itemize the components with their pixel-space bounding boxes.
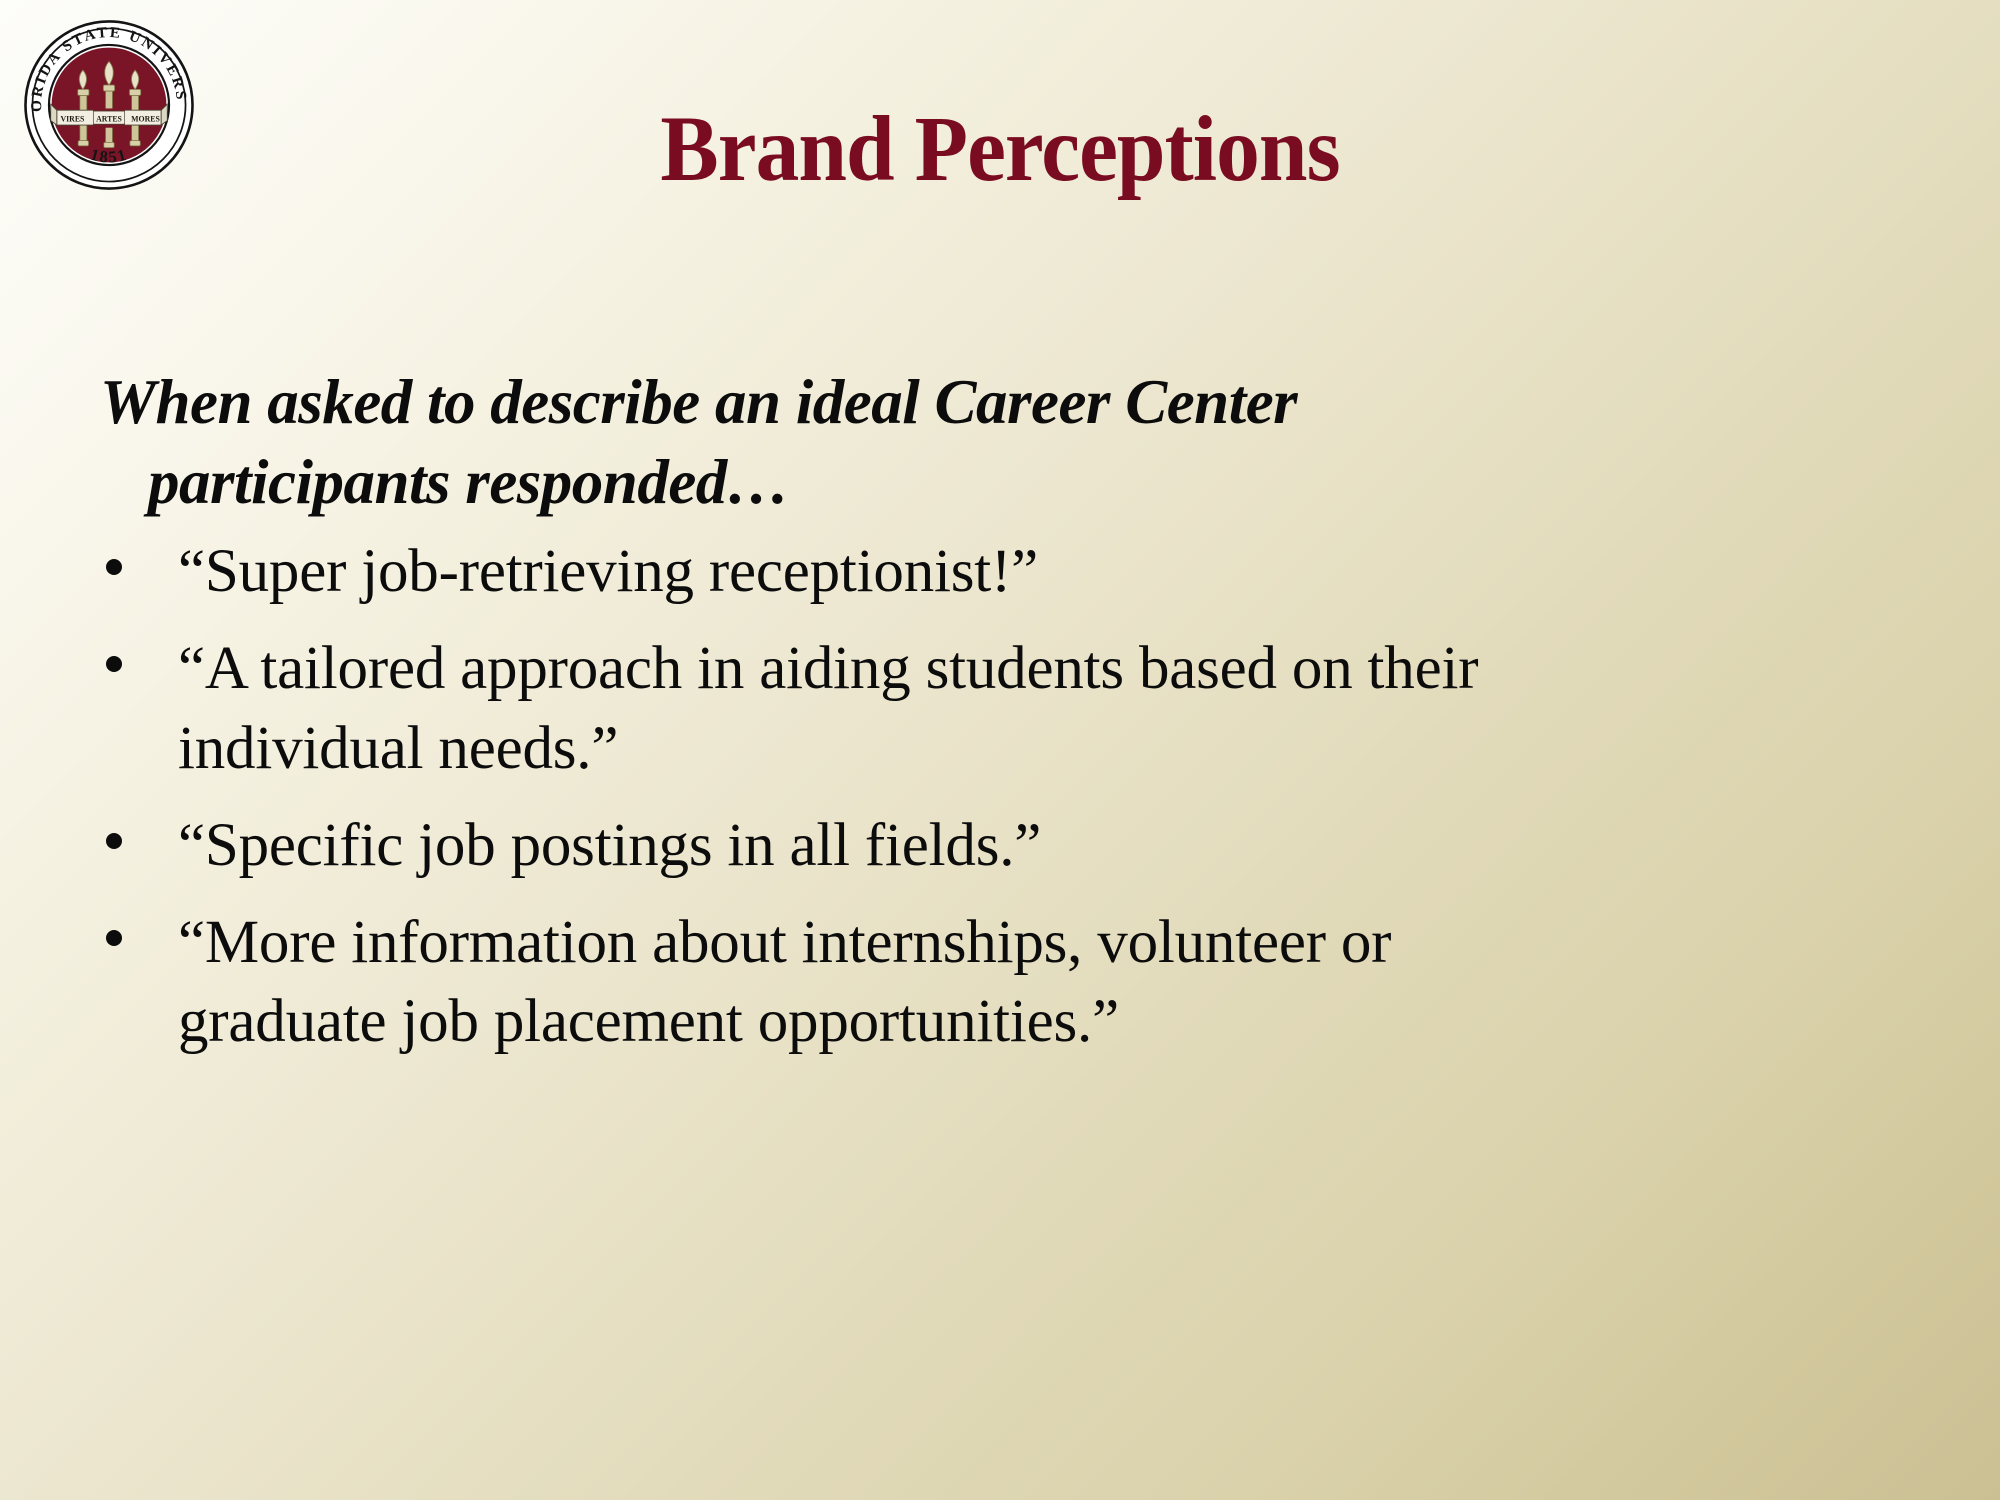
lead-line-1: When asked to describe an ideal Career C… — [100, 367, 1297, 437]
slide-canvas: FLORIDA STATE UNIVERSITY 1851 — [0, 0, 2000, 1500]
slide-title: Brand Perceptions — [60, 103, 1940, 196]
bullet-icon — [106, 930, 122, 946]
quote-text: “Super job-retrieving receptionist!” — [178, 532, 1578, 611]
list-item: “More information about internships, vol… — [100, 903, 1800, 1062]
bullet-icon — [106, 559, 122, 575]
quote-text: “More information about internships, vol… — [178, 903, 1578, 1062]
bullet-icon — [106, 656, 122, 672]
lead-line-2: participants responded… — [100, 442, 1540, 522]
quote-text: “A tailored approach in aiding students … — [178, 629, 1578, 788]
lead-paragraph: When asked to describe an ideal Career C… — [100, 362, 1540, 522]
quote-list: “Super job-retrieving receptionist!” “A … — [100, 532, 1800, 1062]
slide-body: When asked to describe an ideal Career C… — [100, 362, 1800, 1080]
bullet-icon — [106, 833, 122, 849]
list-item: “Super job-retrieving receptionist!” — [100, 532, 1800, 611]
list-item: “Specific job postings in all fields.” — [100, 806, 1800, 885]
list-item: “A tailored approach in aiding students … — [100, 629, 1800, 788]
quote-text: “Specific job postings in all fields.” — [178, 806, 1578, 885]
